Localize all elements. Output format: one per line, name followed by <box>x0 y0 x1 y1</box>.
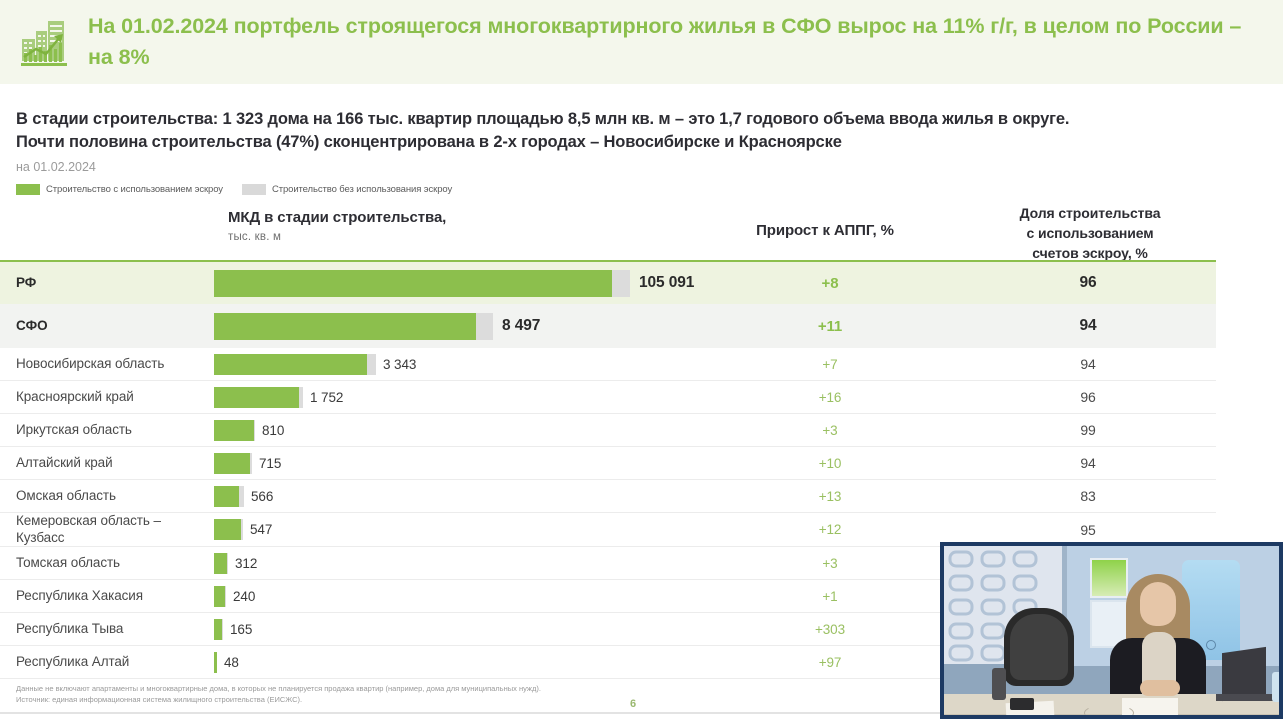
video-chair-mesh <box>1010 614 1068 680</box>
column-header-escrow-share-line-1: Доля строительства <box>960 204 1220 224</box>
page-number: 6 <box>630 698 636 710</box>
row-bar-cell: 165 <box>214 619 700 640</box>
bar-segment-escrow <box>214 270 612 297</box>
row-label: Иркутская область <box>0 422 214 439</box>
bar-segment-no-escrow <box>612 270 630 297</box>
row-growth-value: +97 <box>700 655 960 670</box>
row-bar-cell: 48 <box>214 652 700 673</box>
legend-item-no-escrow: Строительство без использования эскроу <box>242 184 452 195</box>
video-water-bottle <box>1272 672 1283 702</box>
row-growth-value: +10 <box>700 456 960 471</box>
bar-segment-escrow <box>214 519 241 540</box>
row-growth-value: +7 <box>700 357 960 372</box>
bar-group <box>214 313 493 340</box>
subheadline-date: на 01.02.2024 <box>16 160 1246 174</box>
bar-segment-escrow <box>214 313 476 340</box>
video-person-hands <box>1140 680 1180 696</box>
row-growth-value: +12 <box>700 522 960 537</box>
bar-segment-escrow <box>214 453 250 474</box>
row-label: Республика Алтай <box>0 654 214 671</box>
subheadline-line-1: В стадии строительства: 1 323 дома на 16… <box>16 108 1246 131</box>
legend-label-escrow: Строительство с использованием эскроу <box>46 184 223 195</box>
row-label: Томская область <box>0 555 214 572</box>
bar-segment-escrow <box>214 486 239 507</box>
row-label: РФ <box>0 275 214 292</box>
row-bar-cell: 105 091 <box>214 270 700 297</box>
row-bar-cell: 8 497 <box>214 313 700 340</box>
bar-value-label: 3 343 <box>383 357 416 372</box>
bar-segment-no-escrow <box>225 586 226 607</box>
table-row: Алтайский край715+1094 <box>0 447 1216 480</box>
bar-segment-no-escrow <box>254 420 255 441</box>
row-label: СФО <box>0 318 214 335</box>
column-header-escrow-share: Доля строительства с использованием счет… <box>960 204 1220 264</box>
row-label: Омская область <box>0 488 214 505</box>
bar-group <box>214 486 244 507</box>
row-escrow-share-value: 96 <box>960 389 1216 405</box>
bar-group <box>214 420 255 441</box>
footnote-line-2: Источник: единая информационная система … <box>16 694 776 705</box>
video-green-poster <box>1090 558 1128 598</box>
video-laptop-base <box>1216 694 1274 701</box>
table-row: Красноярский край1 752+1696 <box>0 381 1216 414</box>
bar-value-label: 8 497 <box>502 317 540 335</box>
bar-segment-no-escrow <box>222 619 223 640</box>
legend-swatch-no-escrow-icon <box>242 184 266 195</box>
column-header-growth: Прирост к АППГ, % <box>700 222 950 239</box>
bar-value-label: 566 <box>251 489 273 504</box>
bar-group <box>214 387 303 408</box>
bar-segment-escrow <box>214 354 367 375</box>
row-escrow-share-value: 96 <box>960 274 1216 292</box>
row-bar-cell: 1 752 <box>214 387 700 408</box>
bar-segment-no-escrow <box>239 486 244 507</box>
bar-segment-no-escrow <box>367 354 376 375</box>
video-person-face <box>1140 582 1176 626</box>
bar-group <box>214 652 217 673</box>
chart-legend: Строительство с использованием эскроу Ст… <box>16 184 464 195</box>
video-conference-overlay[interactable] <box>940 542 1283 719</box>
row-bar-cell: 715 <box>214 453 700 474</box>
bar-segment-escrow <box>214 420 254 441</box>
row-growth-value: +3 <box>700 423 960 438</box>
row-label: Республика Хакасия <box>0 588 214 605</box>
bar-group <box>214 553 228 574</box>
row-growth-value: +8 <box>700 275 960 292</box>
row-label: Республика Тыва <box>0 621 214 638</box>
bar-value-label: 105 091 <box>639 274 694 292</box>
video-phone-left <box>1010 698 1034 710</box>
bar-value-label: 547 <box>250 522 272 537</box>
video-tumbler <box>992 668 1006 700</box>
row-label: Красноярский край <box>0 389 214 406</box>
row-bar-cell: 566 <box>214 486 700 507</box>
row-escrow-share-value: 94 <box>960 455 1216 471</box>
row-escrow-share-value: 83 <box>960 488 1216 504</box>
presentation-slide: На 01.02.2024 портфель строящегося много… <box>0 0 1283 719</box>
row-escrow-share-value: 94 <box>960 317 1216 335</box>
row-bar-cell: 547 <box>214 519 700 540</box>
row-bar-cell: 240 <box>214 586 700 607</box>
bar-segment-no-escrow <box>241 519 243 540</box>
footnote-line-1: Данные не включают апартаменты и многокв… <box>16 683 776 694</box>
bar-segment-no-escrow <box>227 553 228 574</box>
legend-item-escrow: Строительство с использованием эскроу <box>16 184 223 195</box>
column-header-bars-main: МКД в стадии строительства, <box>228 208 608 228</box>
subheadline-line-2: Почти половина строительства (47%) сконц… <box>16 131 1246 154</box>
bar-group <box>214 453 252 474</box>
table-row: Иркутская область810+399 <box>0 414 1216 447</box>
table-column-headers: МКД в стадии строительства, тыс. кв. м П… <box>0 204 1283 260</box>
row-growth-value: +3 <box>700 556 960 571</box>
bar-segment-escrow <box>214 586 225 607</box>
page-title: На 01.02.2024 портфель строящегося много… <box>88 11 1268 72</box>
bar-segment-escrow <box>214 387 299 408</box>
video-laptop <box>1222 647 1266 701</box>
bar-value-label: 1 752 <box>310 390 343 405</box>
footnotes: Данные не включают апартаменты и многокв… <box>16 683 776 706</box>
row-escrow-share-value: 94 <box>960 356 1216 372</box>
bar-segment-escrow <box>214 553 227 574</box>
slide-header: На 01.02.2024 портфель строящегося много… <box>0 0 1283 84</box>
table-row: Новосибирская область3 343+794 <box>0 348 1216 381</box>
row-growth-value: +1 <box>700 589 960 604</box>
row-growth-value: +303 <box>700 622 960 637</box>
row-growth-value: +13 <box>700 489 960 504</box>
subheadline: В стадии строительства: 1 323 дома на 16… <box>16 108 1246 174</box>
bar-value-label: 810 <box>262 423 284 438</box>
bar-group <box>214 586 226 607</box>
column-header-bars: МКД в стадии строительства, тыс. кв. м <box>228 208 608 243</box>
table-row: СФО8 497+1194 <box>0 304 1216 348</box>
bar-value-label: 312 <box>235 556 257 571</box>
column-header-escrow-share-line-2: с использованием <box>960 224 1220 244</box>
bar-group <box>214 619 223 640</box>
bar-segment-escrow <box>214 619 222 640</box>
bar-group <box>214 519 243 540</box>
table-row: Омская область566+1383 <box>0 480 1216 513</box>
bar-group <box>214 354 376 375</box>
bar-value-label: 715 <box>259 456 281 471</box>
bar-segment-no-escrow <box>250 453 252 474</box>
row-escrow-share-value: 95 <box>960 522 1216 538</box>
row-label: Новосибирская область <box>0 356 214 373</box>
row-growth-value: +11 <box>700 318 960 335</box>
column-header-bars-unit: тыс. кв. м <box>228 231 608 243</box>
row-bar-cell: 312 <box>214 553 700 574</box>
row-growth-value: +16 <box>700 390 960 405</box>
row-bar-cell: 810 <box>214 420 700 441</box>
bar-value-label: 240 <box>233 589 255 604</box>
bar-segment-no-escrow <box>299 387 303 408</box>
row-bar-cell: 3 343 <box>214 354 700 375</box>
bar-segment-no-escrow <box>476 313 493 340</box>
city-growth-chart-icon <box>14 11 76 73</box>
bar-segment-escrow <box>214 652 217 673</box>
row-escrow-share-value: 99 <box>960 422 1216 438</box>
bar-group <box>214 270 630 297</box>
legend-label-no-escrow: Строительство без использования эскроу <box>272 184 452 195</box>
bar-value-label: 48 <box>224 655 239 670</box>
video-cable <box>1084 704 1134 719</box>
legend-swatch-escrow-icon <box>16 184 40 195</box>
row-label: Кемеровская область – Кузбасс <box>0 513 214 547</box>
table-row: РФ105 091+896 <box>0 260 1216 304</box>
row-label: Алтайский край <box>0 455 214 472</box>
bar-value-label: 165 <box>230 622 252 637</box>
video-cabinet-logo <box>1206 640 1216 650</box>
